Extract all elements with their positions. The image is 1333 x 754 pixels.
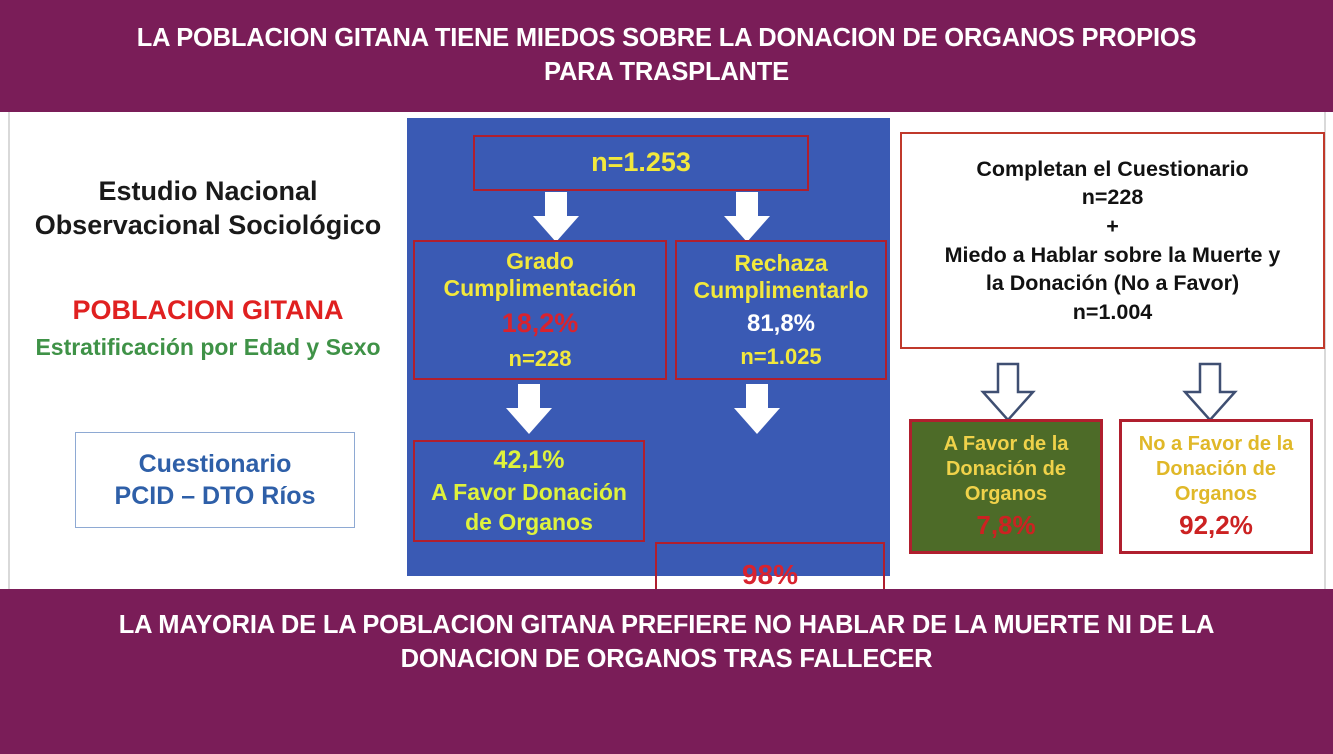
header-banner: LA POBLACION GITANA TIENE MIEDOS SOBRE L… xyxy=(0,0,1333,112)
result-box-a-favor: A Favor de la Donación de Organos 7,8% xyxy=(909,419,1103,554)
result-box-no-a-favor: No a Favor de la Donación de Organos 92,… xyxy=(1119,419,1313,554)
rechaza-label-line2: Cumplimentarlo xyxy=(693,277,868,304)
stratification-label: Estratificación por Edad y Sexo xyxy=(18,334,398,361)
questionnaire-box: Cuestionario PCID – DTO Ríos xyxy=(75,432,355,528)
green-line3: Organos xyxy=(965,482,1047,507)
grado-label-line2: Cumplimentación xyxy=(444,275,637,302)
population-label: POBLACION GITANA xyxy=(28,295,388,326)
arrow-down-icon xyxy=(724,192,770,242)
footer-banner: LA MAYORIA DE LA POBLACION GITANA PREFIE… xyxy=(0,589,1333,754)
rechaza-n: n=1.025 xyxy=(740,344,821,370)
footer-conclusion: LA MAYORIA DE LA POBLACION GITANA PREFIE… xyxy=(77,609,1257,677)
study-title-line2: Observacional Sociológico xyxy=(28,208,388,242)
questionnaire-line2: PCID – DTO Ríos xyxy=(115,480,316,513)
white-percent: 92,2% xyxy=(1179,510,1253,541)
grado-n: n=228 xyxy=(509,346,572,372)
study-title: Estudio Nacional Observacional Sociológi… xyxy=(28,174,388,243)
summary-line2: n=228 xyxy=(1082,183,1144,212)
favor-label-line2: de Organos xyxy=(465,509,593,536)
left-edge-rule xyxy=(8,112,10,589)
white-line3: Organos xyxy=(1175,482,1257,507)
flow-node-rechaza: Rechaza Cumplimentarlo 81,8% n=1.025 xyxy=(675,240,887,380)
favor-label-line1: A Favor Donación xyxy=(431,479,627,506)
grado-label-line1: Grado xyxy=(506,248,574,275)
arrow-down-outline-icon xyxy=(1180,362,1240,424)
miedo-percent: 98% xyxy=(742,559,798,591)
slide-root: LA POBLACION GITANA TIENE MIEDOS SOBRE L… xyxy=(0,0,1333,754)
arrow-down-icon xyxy=(506,384,552,436)
rechaza-label-line1: Rechaza xyxy=(734,250,827,277)
content-area: Estudio Nacional Observacional Sociológi… xyxy=(0,112,1333,589)
flow-node-total: n=1.253 xyxy=(473,135,809,191)
summary-line5: la Donación (No a Favor) xyxy=(986,269,1239,298)
green-percent: 7,8% xyxy=(976,510,1035,541)
flow-total-value: n=1.253 xyxy=(591,147,691,179)
arrow-down-icon xyxy=(533,192,579,242)
questionnaire-line1: Cuestionario xyxy=(139,448,292,481)
green-line1: A Favor de la xyxy=(944,432,1069,457)
summary-box: Completan el Cuestionario n=228 + Miedo … xyxy=(900,132,1325,349)
favor-percent: 42,1% xyxy=(494,446,565,476)
header-title: LA POBLACION GITANA TIENE MIEDOS SOBRE L… xyxy=(107,22,1227,90)
summary-line6: n=1.004 xyxy=(1073,298,1153,327)
flow-node-grado: Grado Cumplimentación 18,2% n=228 xyxy=(413,240,667,380)
summary-line3: + xyxy=(1106,212,1119,241)
white-line1: No a Favor de la xyxy=(1139,432,1294,457)
arrow-down-icon xyxy=(734,384,780,436)
rechaza-percent: 81,8% xyxy=(747,310,815,338)
flow-panel: n=1.253 Grado Cumplimentación 18,2% n=22… xyxy=(407,118,890,576)
flow-node-favor: 42,1% A Favor Donación de Organos xyxy=(413,440,645,542)
arrow-down-outline-icon xyxy=(978,362,1038,424)
grado-percent: 18,2% xyxy=(502,308,579,340)
summary-line4: Miedo a Hablar sobre la Muerte y xyxy=(945,241,1281,270)
green-line2: Donación de xyxy=(946,457,1066,482)
summary-line1: Completan el Cuestionario xyxy=(976,155,1248,184)
white-line2: Donación de xyxy=(1156,457,1276,482)
study-title-line1: Estudio Nacional xyxy=(28,174,388,208)
